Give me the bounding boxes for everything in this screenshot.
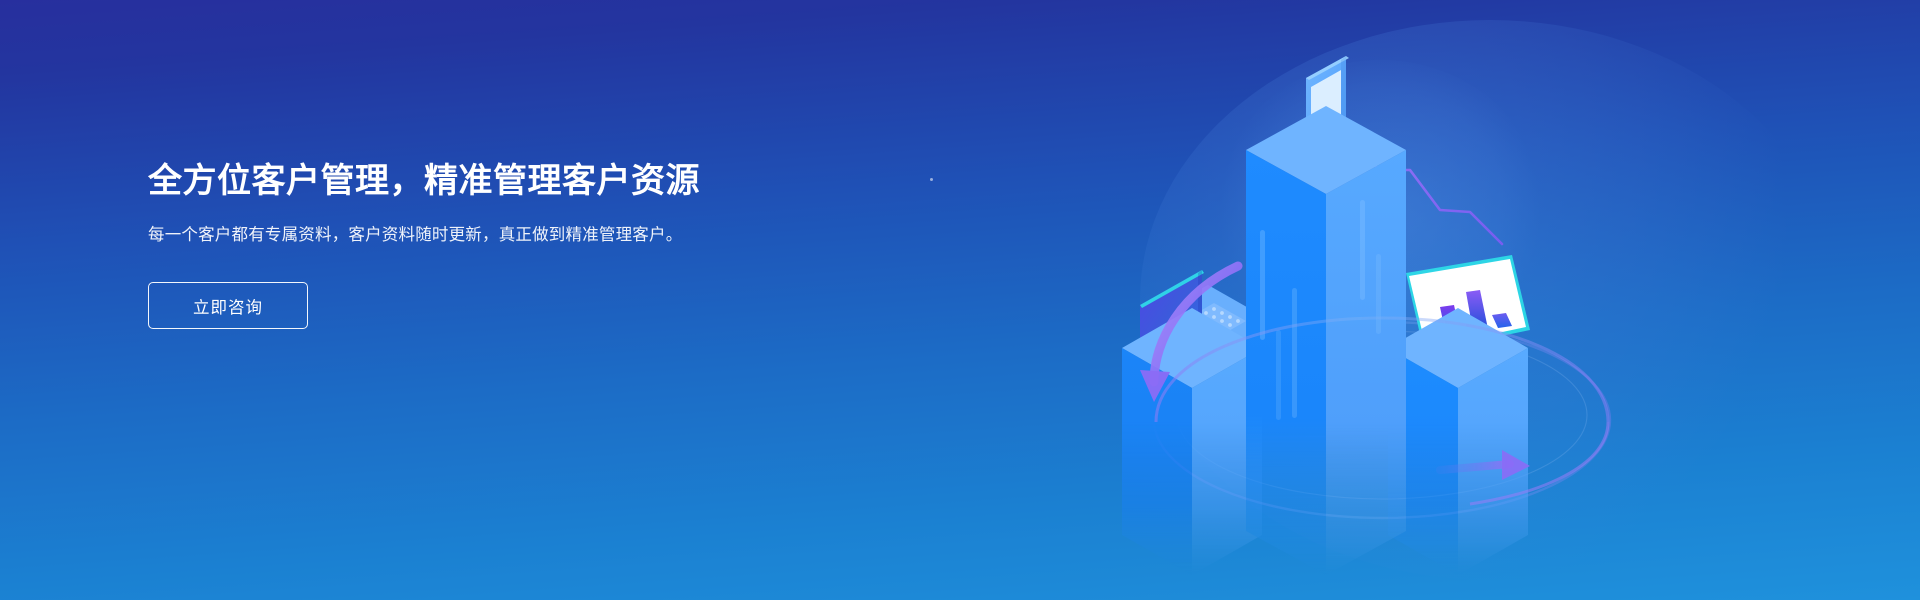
- consult-now-button[interactable]: 立即咨询: [148, 282, 308, 329]
- hero-banner: 全方位客户管理，精准管理客户资源 每一个客户都有专属资料，客户资料随时更新，真正…: [0, 0, 1920, 600]
- pedestal-right: [1388, 255, 1530, 575]
- sparkle-dot: [930, 178, 933, 181]
- pedestal-center: [1246, 56, 1406, 575]
- page-title: 全方位客户管理，精准管理客户资源: [148, 160, 788, 204]
- hero-subtitle: 每一个客户都有专属资料，客户资料随时更新，真正做到精准管理客户。: [148, 222, 748, 249]
- hero-copy: 全方位客户管理，精准管理客户资源 每一个客户都有专属资料，客户资料随时更新，真正…: [148, 160, 788, 329]
- hero-illustration: [1110, 30, 1670, 575]
